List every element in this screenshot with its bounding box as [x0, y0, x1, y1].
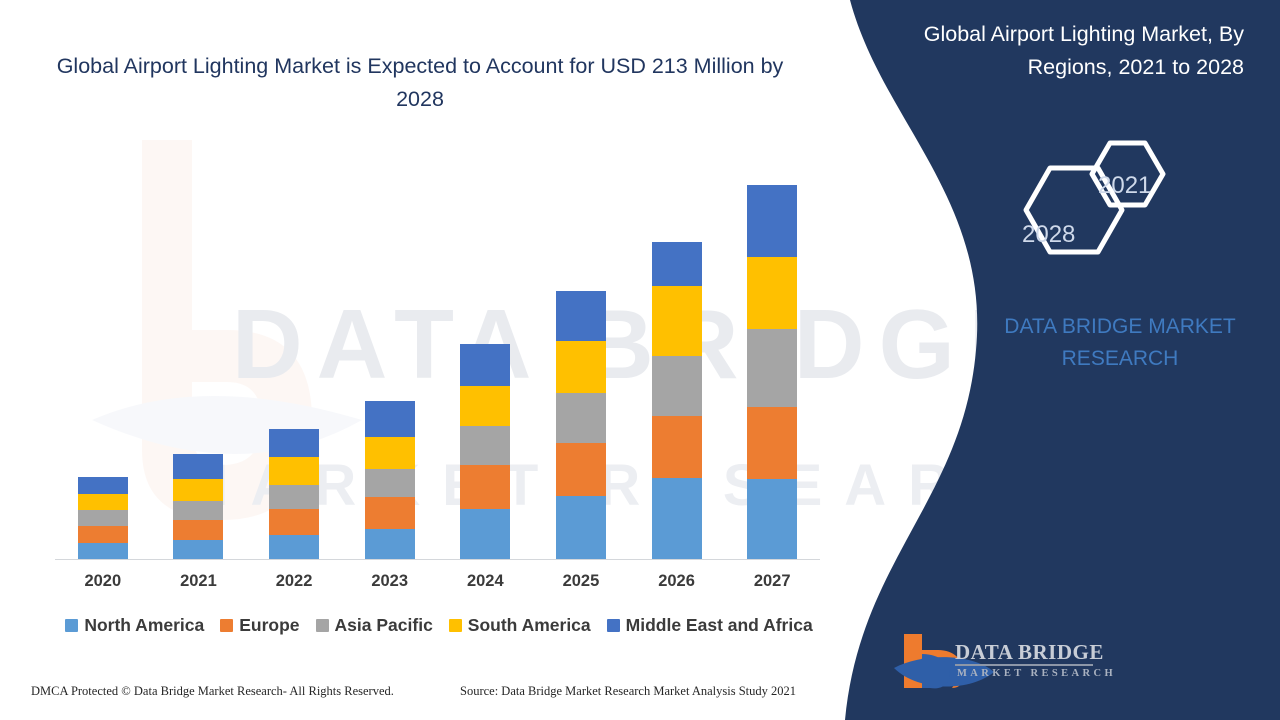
bar-segment[interactable]: [78, 494, 128, 510]
bar-slot: [342, 160, 438, 559]
bar-segment[interactable]: [269, 509, 319, 535]
bar-segment[interactable]: [173, 520, 223, 540]
stacked-bar[interactable]: [460, 344, 510, 559]
x-axis-label: 2026: [629, 572, 725, 591]
stacked-bar[interactable]: [269, 429, 319, 559]
stacked-bar[interactable]: [652, 242, 702, 559]
hexagon-pair: [990, 138, 1180, 288]
bar-segment[interactable]: [78, 477, 128, 494]
bar-slot: [438, 160, 534, 559]
bar-segment[interactable]: [652, 478, 702, 559]
infographic-canvas: DATA BRIDGE MARKET RESEARCH Global Airpo…: [0, 0, 1280, 720]
x-axis-label: 2021: [151, 572, 247, 591]
panel-title: Global Airport Lighting Market, By Regio…: [854, 18, 1244, 84]
stacked-bar[interactable]: [78, 477, 128, 559]
legend-swatch-icon: [220, 619, 233, 632]
logo-text-main: DATA BRIDGE: [955, 640, 1104, 665]
x-axis-label: 2023: [342, 572, 438, 591]
bar-segment[interactable]: [556, 341, 606, 393]
bar-segment[interactable]: [652, 416, 702, 478]
bar-segment[interactable]: [556, 496, 606, 559]
bar-segment[interactable]: [269, 457, 319, 485]
bar-segment[interactable]: [173, 454, 223, 479]
legend-item[interactable]: Europe: [220, 615, 299, 636]
x-axis-label: 2027: [724, 572, 820, 591]
bar-slot: [151, 160, 247, 559]
stacked-bar[interactable]: [365, 401, 415, 559]
bar-segment[interactable]: [365, 469, 415, 497]
bar-slot: [724, 160, 820, 559]
bar-segment[interactable]: [460, 465, 510, 509]
bar-segment[interactable]: [556, 393, 606, 443]
legend-item[interactable]: Asia Pacific: [316, 615, 433, 636]
hexagon-label-2021: 2021: [1098, 172, 1151, 200]
bar-slot: [533, 160, 629, 559]
bar-segment[interactable]: [747, 329, 797, 407]
bar-segment[interactable]: [460, 386, 510, 426]
bar-segment[interactable]: [747, 407, 797, 479]
bar-segment[interactable]: [173, 479, 223, 501]
logo-text-sub: MARKET RESEARCH: [957, 668, 1116, 679]
hexagon-label-2028: 2028: [1022, 221, 1075, 249]
bar-segment[interactable]: [173, 501, 223, 520]
legend-label: North America: [84, 615, 204, 636]
bar-segment[interactable]: [173, 540, 223, 559]
bar-segment[interactable]: [365, 529, 415, 559]
bar-slot: [246, 160, 342, 559]
bar-segment[interactable]: [747, 479, 797, 559]
bar-slot: [55, 160, 151, 559]
chart-legend: North AmericaEuropeAsia PacificSouth Ame…: [55, 615, 823, 636]
legend-label: Asia Pacific: [335, 615, 433, 636]
legend-swatch-icon: [316, 619, 329, 632]
chart-title: Global Airport Lighting Market is Expect…: [40, 50, 800, 116]
bar-segment[interactable]: [269, 535, 319, 559]
bar-segment[interactable]: [365, 437, 415, 469]
panel-brand-line-1: DATA BRIDGE MARKET: [975, 311, 1265, 343]
bar-segment[interactable]: [652, 286, 702, 356]
legend-swatch-icon: [607, 619, 620, 632]
x-axis-label: 2020: [55, 572, 151, 591]
footer-copyright: DMCA Protected © Data Bridge Market Rese…: [31, 684, 394, 699]
legend-swatch-icon: [65, 619, 78, 632]
chart-plot-area: [55, 160, 820, 560]
legend-swatch-icon: [449, 619, 462, 632]
legend-item[interactable]: North America: [65, 615, 204, 636]
bar-segment[interactable]: [556, 443, 606, 496]
x-axis-label: 2025: [533, 572, 629, 591]
stacked-bar[interactable]: [556, 291, 606, 559]
legend-label: Middle East and Africa: [626, 615, 813, 636]
panel-brand: DATA BRIDGE MARKET RESEARCH: [975, 311, 1265, 375]
bar-segment[interactable]: [365, 401, 415, 437]
x-axis-labels: 20202021202220232024202520262027: [55, 572, 820, 591]
x-axis-label: 2024: [438, 572, 534, 591]
bar-segment[interactable]: [78, 543, 128, 559]
legend-label: South America: [468, 615, 591, 636]
x-axis-label: 2022: [246, 572, 342, 591]
bar-segment[interactable]: [460, 344, 510, 386]
bar-segment[interactable]: [460, 509, 510, 559]
bar-segment[interactable]: [747, 185, 797, 257]
bar-segment[interactable]: [747, 257, 797, 329]
panel-brand-line-2: RESEARCH: [975, 343, 1265, 375]
legend-item[interactable]: Middle East and Africa: [607, 615, 813, 636]
bar-slot: [629, 160, 725, 559]
bar-group: [55, 160, 820, 559]
bar-segment[interactable]: [269, 485, 319, 509]
bar-segment[interactable]: [556, 291, 606, 341]
bar-segment[interactable]: [78, 510, 128, 526]
bar-segment[interactable]: [365, 497, 415, 529]
x-axis-line: [55, 559, 820, 560]
bar-segment[interactable]: [460, 426, 510, 465]
stacked-bar[interactable]: [747, 185, 797, 559]
stacked-bar[interactable]: [173, 454, 223, 559]
bar-segment[interactable]: [78, 526, 128, 543]
logo-divider: [955, 664, 1093, 666]
legend-label: Europe: [239, 615, 299, 636]
legend-item[interactable]: South America: [449, 615, 591, 636]
bar-segment[interactable]: [652, 242, 702, 286]
bar-segment[interactable]: [652, 356, 702, 416]
footer-source: Source: Data Bridge Market Research Mark…: [460, 684, 796, 699]
bar-segment[interactable]: [269, 429, 319, 457]
